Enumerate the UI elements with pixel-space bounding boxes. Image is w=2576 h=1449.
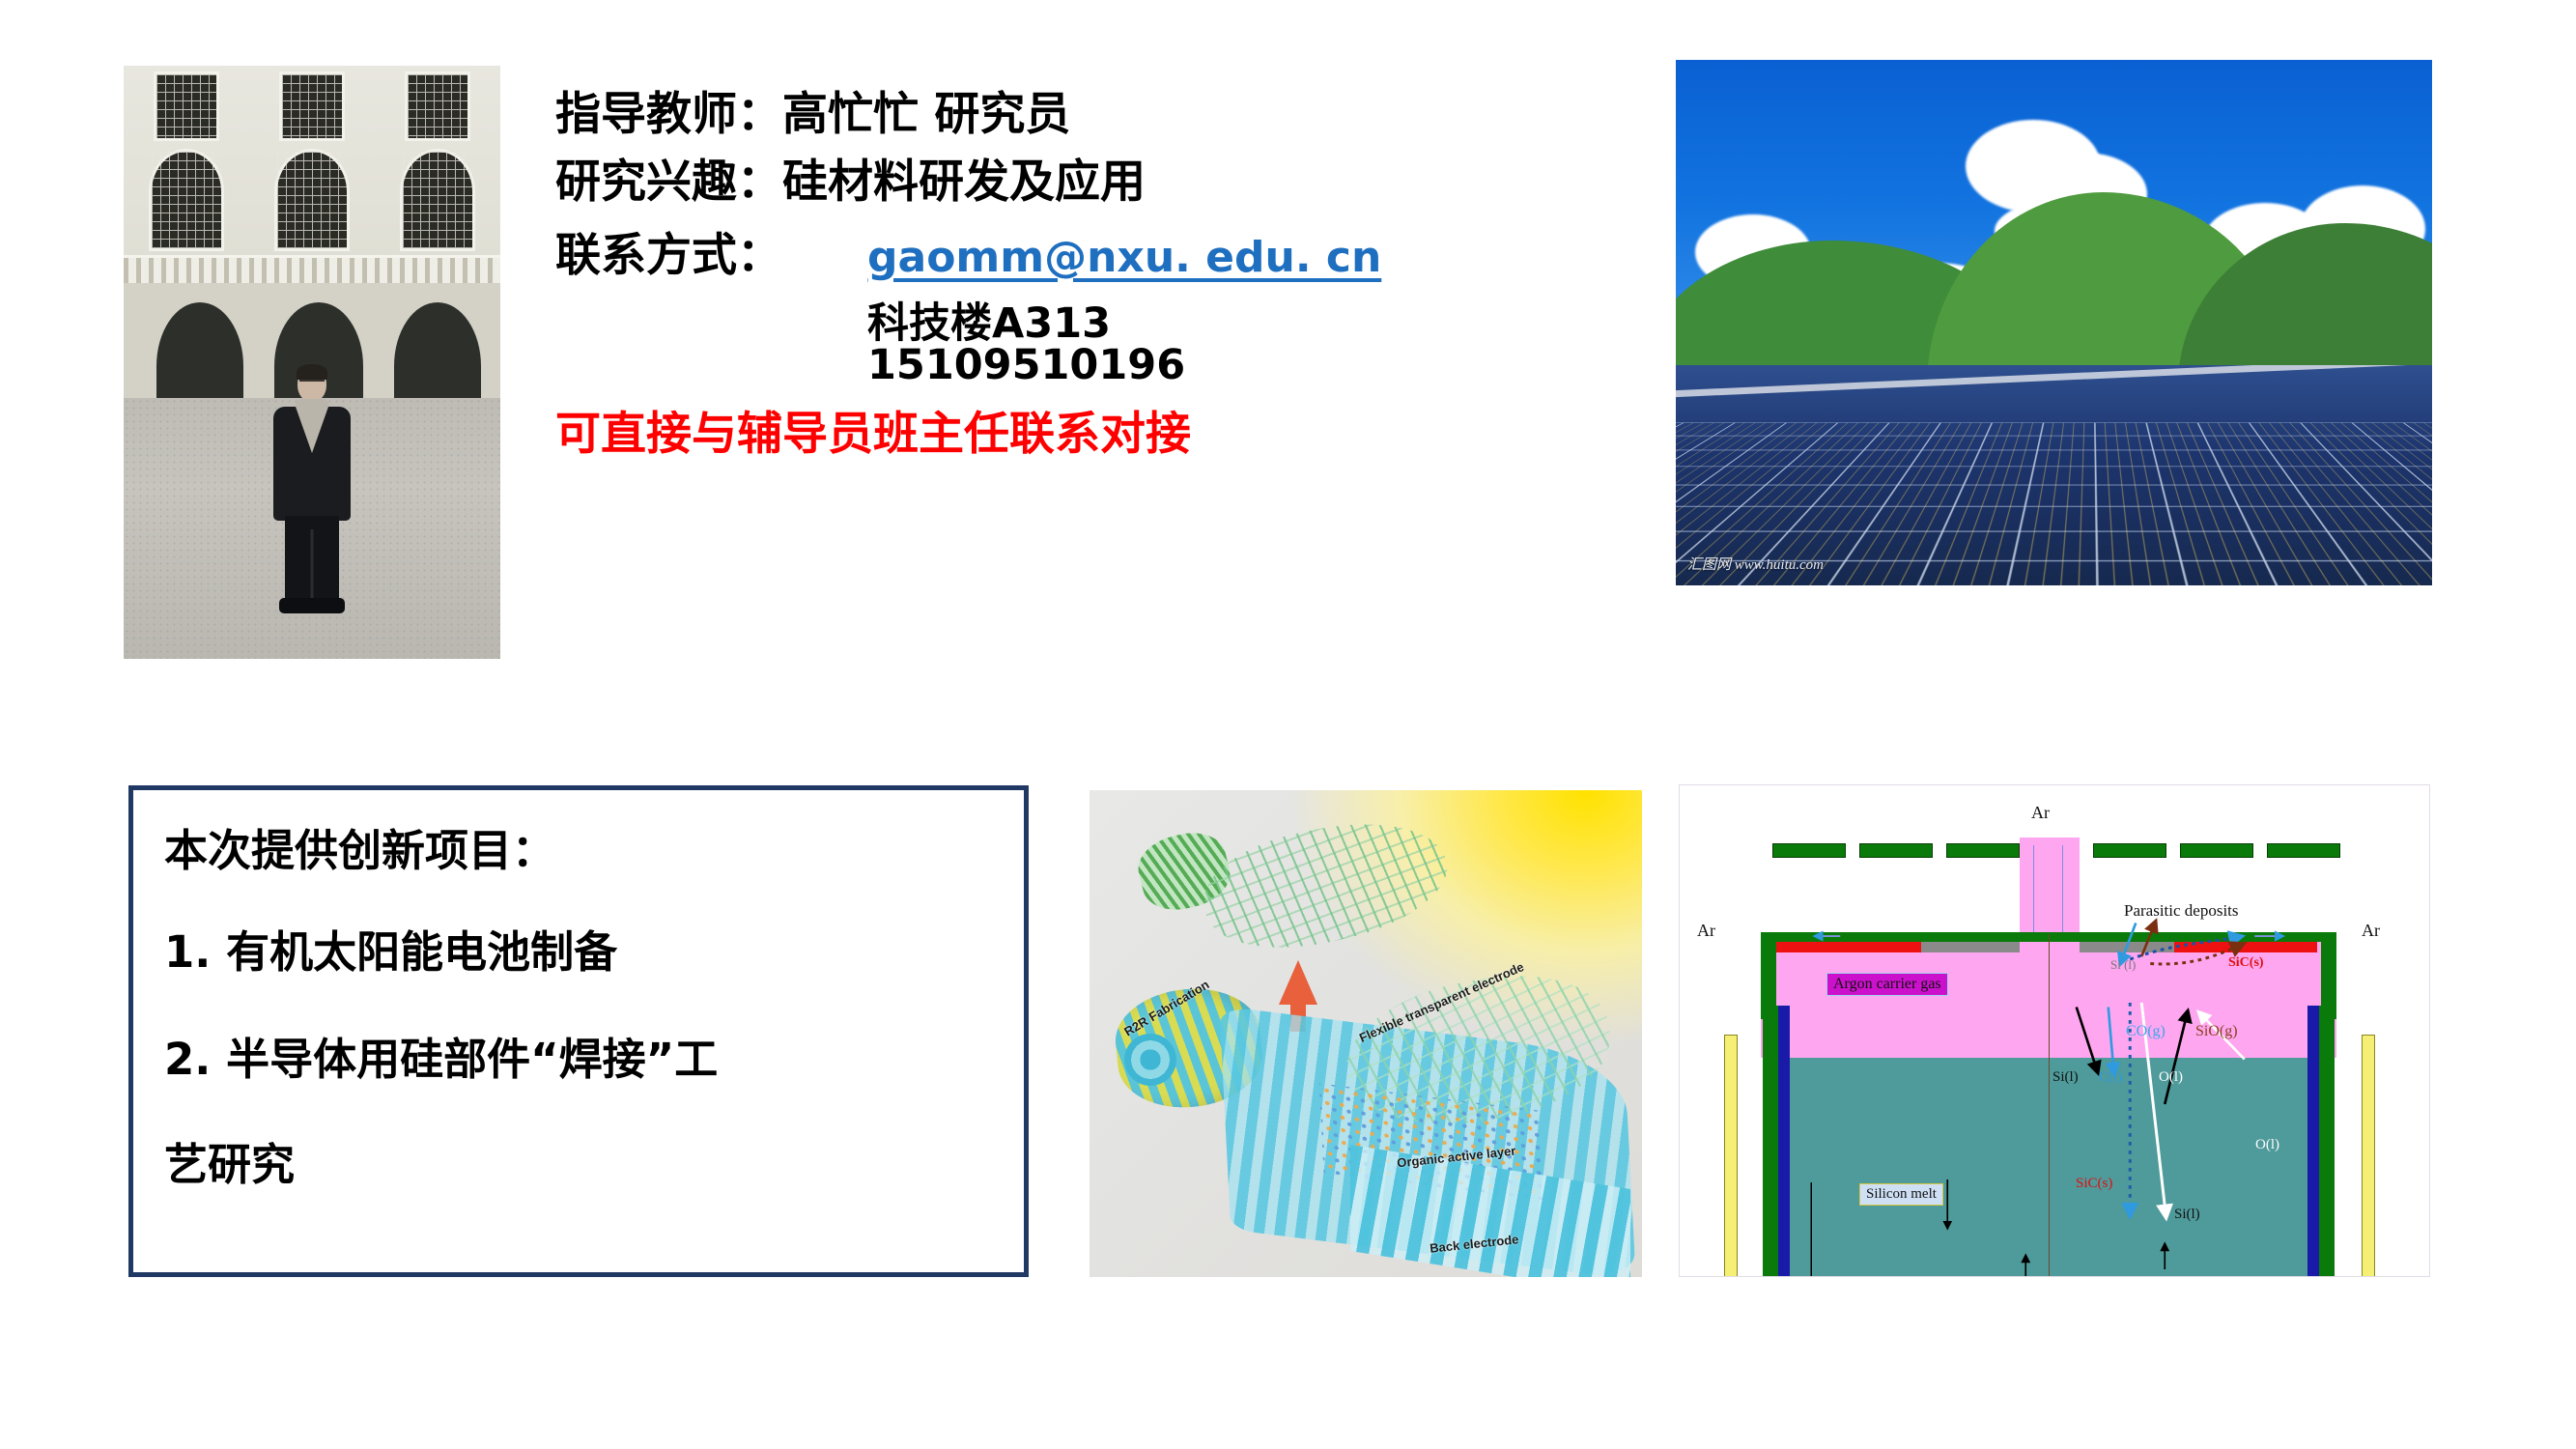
label-ar-top: Ar: [2031, 803, 2050, 823]
ar-flow-arrow: [2062, 845, 2063, 934]
label-sio-g: SiO(g): [2195, 1023, 2238, 1040]
person-figure: [266, 366, 358, 617]
contact-label: 联系方式：: [555, 233, 782, 278]
project-item-1: 1. 有机太阳能电池制备: [164, 930, 617, 974]
arched-window-icon: [274, 149, 350, 251]
graphite-crucible-right: [2319, 1006, 2335, 1277]
top-heat-shield-bar: [2180, 843, 2253, 858]
graphite-heater-rod-right: [2362, 1035, 2375, 1277]
person-legs: [285, 516, 339, 601]
notice-red-text: 可直接与辅导员班主任联系对接: [555, 396, 1191, 463]
label-parasitic-deposits: Parasitic deposits: [2124, 901, 2239, 921]
window-icon: [405, 71, 470, 141]
building-window-row-upper: [124, 71, 500, 141]
label-o-l-right: O(l): [2255, 1137, 2279, 1153]
label-si-l-top: Si (l): [2110, 957, 2136, 973]
label-argon-carrier-gas: Argon carrier gas: [1826, 973, 1948, 996]
label-sic-s-top: SiC(s): [2228, 955, 2264, 971]
label-sic-s-melt: SiC(s): [2076, 1176, 2112, 1192]
glasses-icon: [299, 380, 325, 387]
roll-core: [1124, 1034, 1176, 1086]
window-icon: [279, 71, 345, 141]
label-si-l-bottom: Si(l): [2174, 1207, 2200, 1223]
label-ar-right: Ar: [2362, 921, 2380, 941]
arched-window-icon: [149, 149, 224, 251]
solar-panel-farm-photo: 汇图网 www.huitu.com: [1676, 60, 2432, 585]
window-icon: [154, 71, 219, 141]
label-ar-left: Ar: [1697, 921, 1715, 941]
label-o-l-left: O(l): [2159, 1069, 2183, 1086]
label-silicon-melt: Silicon melt: [1859, 1183, 1943, 1206]
projects-box: 本次提供创新项目： 1. 有机太阳能电池制备 2. 半导体用硅部件“焊接”工 艺…: [128, 785, 1029, 1277]
person-hair: [297, 364, 327, 380]
photo-watermark: 汇图网 www.huitu.com: [1687, 554, 1824, 574]
argon-inlet-channel: [2020, 838, 2080, 946]
top-heat-shield-bar: [2093, 843, 2166, 858]
deposit-red-band: [2174, 942, 2317, 952]
project-item-2-cont: 艺研究: [164, 1143, 295, 1186]
deposit-gray-band: [2080, 942, 2174, 952]
maintenance-walkway: [1676, 365, 2432, 397]
centre-axis-line: [2049, 934, 2050, 1277]
deposit-red-band: [1776, 942, 1921, 952]
up-arrow-icon: [1279, 960, 1317, 1005]
quartz-crucible-right: [2307, 1006, 2319, 1277]
graphite-heater-rod-left: [1724, 1035, 1738, 1277]
project-item-2: 2. 半导体用硅部件“焊接”工: [164, 1037, 718, 1081]
top-heat-shield-bar: [1859, 843, 1933, 858]
ar-flow-arrow: [2033, 845, 2034, 934]
label-co-g: CO(g): [2126, 1023, 2166, 1040]
quartz-crucible-left: [1778, 1006, 1790, 1277]
advisor-line: 指导教师：高忙忙 研究员: [555, 92, 1070, 137]
top-heat-shield-bar: [1946, 843, 2020, 858]
balustrade: [124, 255, 500, 286]
email-link[interactable]: gaomm@nxu. edu. cn: [867, 233, 1381, 282]
advisor-portrait-photo: [124, 66, 500, 659]
phone-number-text: 15109510196: [867, 341, 1185, 389]
person-shoes: [279, 598, 345, 613]
label-c-l: C(l): [2099, 1069, 2122, 1086]
top-heat-shield-bar: [1772, 843, 1846, 858]
deposit-gray-band: [1921, 942, 2020, 952]
top-heat-shield-bar: [2267, 843, 2340, 858]
graphite-crucible-left: [1763, 1006, 1778, 1277]
person-collar: [296, 407, 328, 453]
label-si-l-melt: Si(l): [2052, 1069, 2079, 1086]
arched-window-icon: [400, 149, 475, 251]
research-interest-line: 研究兴趣：硅材料研发及应用: [555, 159, 1146, 205]
solar-panel-array: [1676, 365, 2432, 585]
organic-solar-cell-illustration: R2R Fabrication Flexible transparent ele…: [1090, 790, 1642, 1277]
building-window-row-arched: [124, 149, 500, 251]
czochralski-furnace-diagram: Ar Ar Ar Parasitic deposits Argon carrie…: [1679, 784, 2430, 1277]
silicon-melt-region: [1776, 1058, 2319, 1277]
projects-title: 本次提供创新项目：: [164, 829, 555, 872]
